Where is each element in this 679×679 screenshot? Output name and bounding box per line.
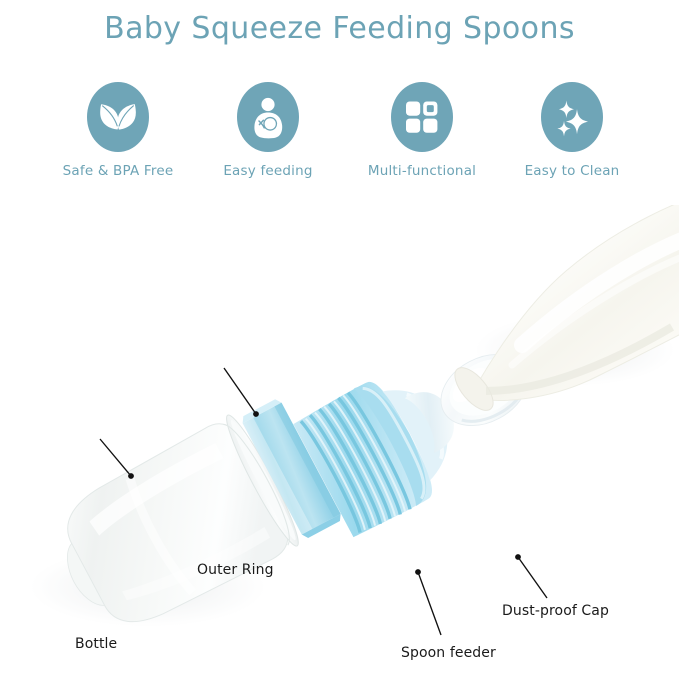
dot-spoon [415,569,421,575]
breastfeeding-icon [237,82,299,152]
annotation-label-outer-ring: Outer Ring [197,562,274,578]
infographic-page: Baby Squeeze Feeding Spoons Safe & BPA F… [0,0,679,679]
leader-bottle [100,439,131,476]
leader-spoon [418,572,441,635]
leader-outer-ring [224,368,256,414]
dot-outer-ring [253,411,259,417]
page-title: Baby Squeeze Feeding Spoons [0,11,679,46]
feature-icon-badge [391,82,453,152]
annotation-label-bottle: Bottle [75,636,117,652]
feature-item-easy-feeding: Easy feeding [193,82,343,179]
feature-icon-badge [237,82,299,152]
sparkles-icon [541,82,603,152]
annotation-label-spoon-feeder: Spoon feeder [401,645,496,661]
feature-item-easy-to-clean: Easy to Clean [497,82,647,179]
feature-icon-badge [541,82,603,152]
dot-bottle [128,473,134,479]
feature-item-safe-bpa-free: Safe & BPA Free [43,82,193,179]
feature-list: Safe & BPA Free Easy feeding [0,82,679,197]
feature-label: Safe & BPA Free [43,163,193,179]
feature-item-multi-functional: Multi-functional [347,82,497,179]
grid-squares-icon [391,82,453,152]
dot-dust-cap [515,554,521,560]
feature-icon-badge [87,82,149,152]
feature-label: Easy to Clean [497,163,647,179]
feature-label: Multi-functional [347,163,497,179]
leader-dust-cap [518,557,547,598]
feature-label: Easy feeding [193,163,343,179]
annotation-label-dust-proof-cap: Dust-proof Cap [502,603,609,619]
product-part-dust-cap [448,205,679,417]
product-exploded-view: Bottle Outer Ring Spoon feeder Dust-proo… [0,205,679,679]
leaves-icon [87,82,149,152]
